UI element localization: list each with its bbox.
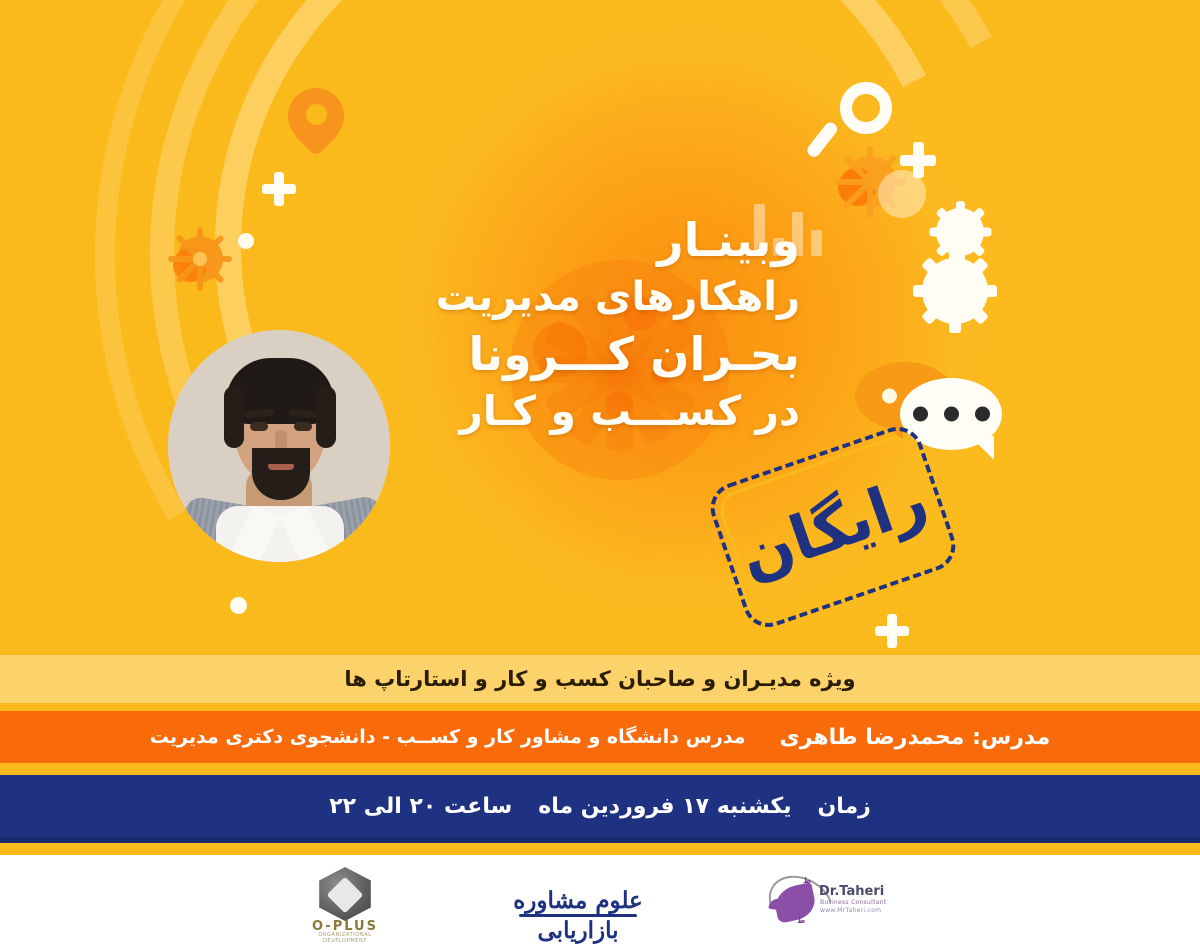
instructor-band: مدرس: محمدرضا طاهری مدرس دانشگاه و مشاور… bbox=[0, 711, 1200, 763]
logo-taheri-tagline: Business Consultant bbox=[820, 899, 887, 906]
title-line-4: در کســـب و کـار bbox=[380, 384, 800, 438]
audience-band: ویژه مدیـران و صاحبان کسب و کار و استارت… bbox=[0, 655, 1200, 703]
logo-taheri-name: Dr.Taheri bbox=[819, 884, 884, 899]
title-line-3: بحـران کـــرونا bbox=[380, 324, 800, 385]
audience-text: ویژه مدیـران و صاحبان کسب و کار و استارت… bbox=[344, 667, 855, 691]
datetime-time: ساعت ۲۰ الی ۲۲ bbox=[329, 794, 512, 819]
plus-icon bbox=[262, 172, 296, 206]
band-divider bbox=[0, 763, 1200, 775]
instructor-avatar bbox=[168, 330, 390, 562]
plus-icon bbox=[900, 142, 936, 178]
sponsor-footer: ط ط Dr.Taheri Business Consultant www.Mr… bbox=[0, 855, 1200, 949]
dot-decoration bbox=[238, 233, 254, 249]
location-pin-icon bbox=[288, 88, 344, 160]
title-line-1: وبینـار bbox=[380, 210, 800, 271]
dot-decoration bbox=[230, 597, 247, 614]
datetime-label: زمان bbox=[817, 794, 870, 819]
logo-mark-bottom: ط bbox=[797, 916, 805, 925]
poster-hero: وبینـار راهکارهای مدیریت بحـران کـــرونا… bbox=[0, 0, 1200, 655]
logo-oplus-tagline: ORGANIZATIONAL DEVELOPMENT bbox=[297, 932, 393, 944]
logo-mark-top: ط bbox=[803, 876, 811, 885]
virus-icon bbox=[163, 222, 237, 296]
poster-title: وبینـار راهکارهای مدیریت بحـران کـــرونا… bbox=[380, 210, 800, 438]
logo-dr-taheri[interactable]: ط ط Dr.Taheri Business Consultant www.Mr… bbox=[763, 874, 903, 930]
instructor-role: مدرس دانشگاه و مشاور کار و کســب - دانشج… bbox=[150, 726, 746, 748]
datetime-band: زمان یکشنبه ۱۷ فروردین ماه ساعت ۲۰ الی ۲… bbox=[0, 775, 1200, 837]
gear-icon bbox=[922, 258, 988, 324]
band-divider bbox=[0, 843, 1200, 855]
webinar-poster: وبینـار راهکارهای مدیریت بحـران کـــرونا… bbox=[0, 0, 1200, 949]
title-line-2: راهکارهای مدیریت bbox=[380, 271, 800, 324]
instructor-name: مدرس: محمدرضا طاهری bbox=[780, 725, 1051, 750]
datetime-date: یکشنبه ۱۷ فروردین ماه bbox=[538, 794, 791, 819]
band-divider bbox=[0, 703, 1200, 711]
plus-icon bbox=[875, 614, 909, 648]
logo-oplus[interactable]: O-PLUS ORGANIZATIONAL DEVELOPMENT bbox=[297, 867, 393, 937]
logo-calligraphy[interactable]: علوم مشاوره بازاریابی bbox=[513, 878, 643, 926]
logo-taheri-site: www.MrTaheri.com bbox=[820, 907, 881, 914]
logo-calligraphy-text: علوم مشاوره بازاریابی bbox=[513, 886, 643, 916]
